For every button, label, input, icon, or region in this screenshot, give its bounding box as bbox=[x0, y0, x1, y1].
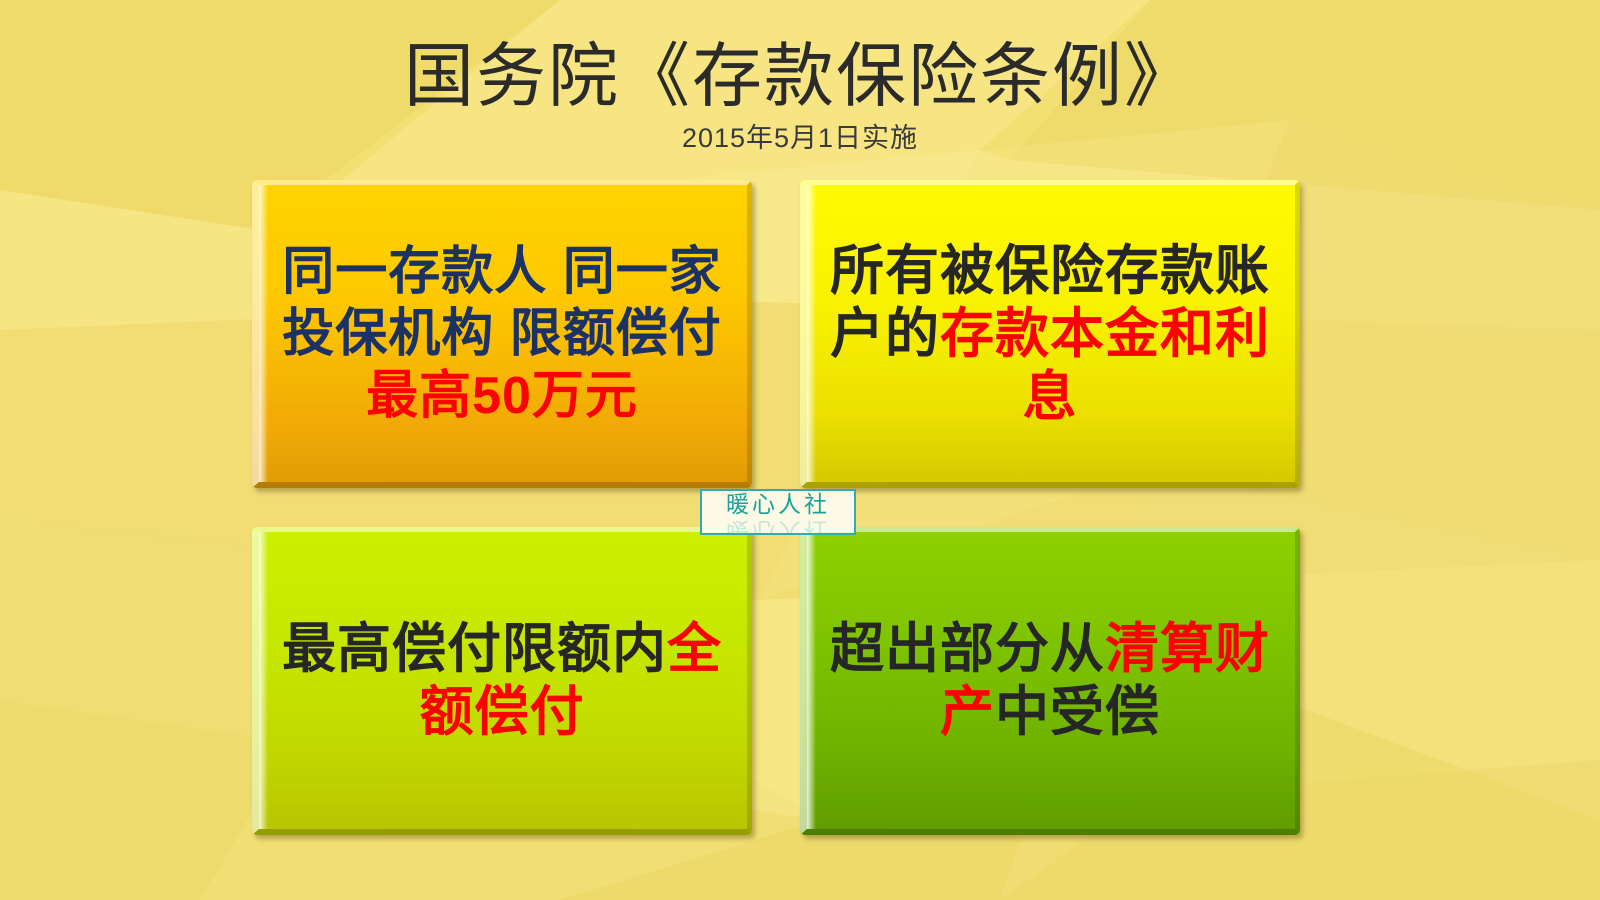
watermark-reflection: 暖心人社 bbox=[702, 517, 854, 535]
card-text: 所有被保险存款账户的存款本金和利息 bbox=[818, 240, 1282, 429]
plain-phrase: 超出部分从 bbox=[830, 619, 1105, 679]
card-inner: 所有被保险存款账户的存款本金和利息 bbox=[800, 240, 1300, 429]
card-text: 超出部分从清算财产中受偿 bbox=[818, 618, 1282, 744]
plain-phrase: 中受偿 bbox=[995, 682, 1160, 742]
card-inner: 同一存款人 同一家投保机构 限额偿付最高50万元 bbox=[252, 241, 752, 427]
highlighted-phrase: 存款本金和利息 bbox=[940, 304, 1270, 427]
page-title: 国务院《存款保险条例》 bbox=[0, 36, 1600, 116]
card-inner: 超出部分从清算财产中受偿 bbox=[800, 618, 1300, 744]
card-inner: 最高偿付限额内全额偿付 bbox=[252, 618, 752, 744]
card-coverage-limit[interactable]: 同一存款人 同一家投保机构 限额偿付最高50万元 bbox=[252, 180, 752, 488]
page-subtitle: 2015年5月1日实施 bbox=[0, 122, 1600, 154]
card-text: 最高偿付限额内全额偿付 bbox=[270, 618, 734, 744]
plain-phrase: 同一存款人 同一家投保机构 限额偿付 bbox=[282, 243, 721, 363]
watermark-badge: 暖心人社 暖心人社 bbox=[700, 489, 856, 535]
card-excess-liquidation[interactable]: 超出部分从清算财产中受偿 bbox=[800, 527, 1300, 835]
watermark-text: 暖心人社 bbox=[726, 491, 830, 518]
card-text: 同一存款人 同一家投保机构 限额偿付最高50万元 bbox=[270, 241, 734, 427]
card-insured-scope[interactable]: 所有被保险存款账户的存款本金和利息 bbox=[800, 180, 1300, 488]
slide-canvas: 国务院《存款保险条例》 2015年5月1日实施 同一存款人 同一家投保机构 限额… bbox=[0, 0, 1600, 900]
title-block: 国务院《存款保险条例》 2015年5月1日实施 bbox=[0, 36, 1600, 154]
plain-phrase: 最高偿付限额内 bbox=[282, 619, 667, 679]
highlighted-phrase: 最高50万元 bbox=[366, 367, 638, 425]
card-full-repayment[interactable]: 最高偿付限额内全额偿付 bbox=[252, 527, 752, 835]
